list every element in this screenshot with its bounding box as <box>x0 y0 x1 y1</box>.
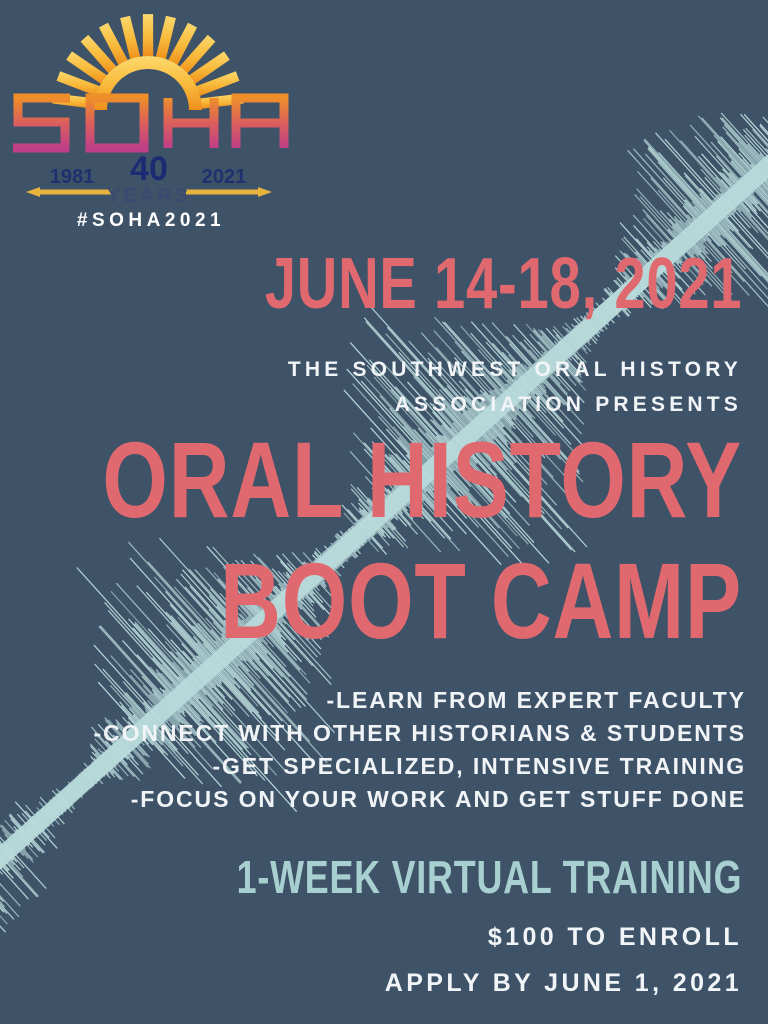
presenter-block: THE SOUTHWEST ORAL HISTORY ASSOCIATION P… <box>288 352 742 422</box>
application-deadline: APPLY BY JUNE 1, 2021 <box>385 968 742 998</box>
list-item: -FOCUS ON YOUR WORK AND GET STUFF DONE <box>94 783 746 816</box>
event-title-line-2: BOOT CAMP <box>220 545 742 657</box>
benefits-list: -LEARN FROM EXPERT FACULTY -CONNECT WITH… <box>94 684 746 816</box>
event-poster: 1981 40 YEARS 2021 #SOHA2021 JUNE 14-18,… <box>0 0 768 1024</box>
presenter-line-2: ASSOCIATION PRESENTS <box>288 387 742 422</box>
presenter-line-1: THE SOUTHWEST ORAL HISTORY <box>288 352 742 387</box>
list-item: -CONNECT WITH OTHER HISTORIANS & STUDENT… <box>94 717 746 750</box>
list-item: -GET SPECIALIZED, INTENSIVE TRAINING <box>94 750 746 783</box>
poster-content: JUNE 14-18, 2021 THE SOUTHWEST ORAL HIST… <box>0 0 768 1024</box>
training-format: 1-WEEK VIRTUAL TRAINING <box>236 852 742 902</box>
event-title-line-1: ORAL HISTORY <box>102 424 742 536</box>
enrollment-price: $100 TO ENROLL <box>488 922 742 952</box>
list-item: -LEARN FROM EXPERT FACULTY <box>94 684 746 717</box>
event-date: JUNE 14-18, 2021 <box>264 246 742 322</box>
